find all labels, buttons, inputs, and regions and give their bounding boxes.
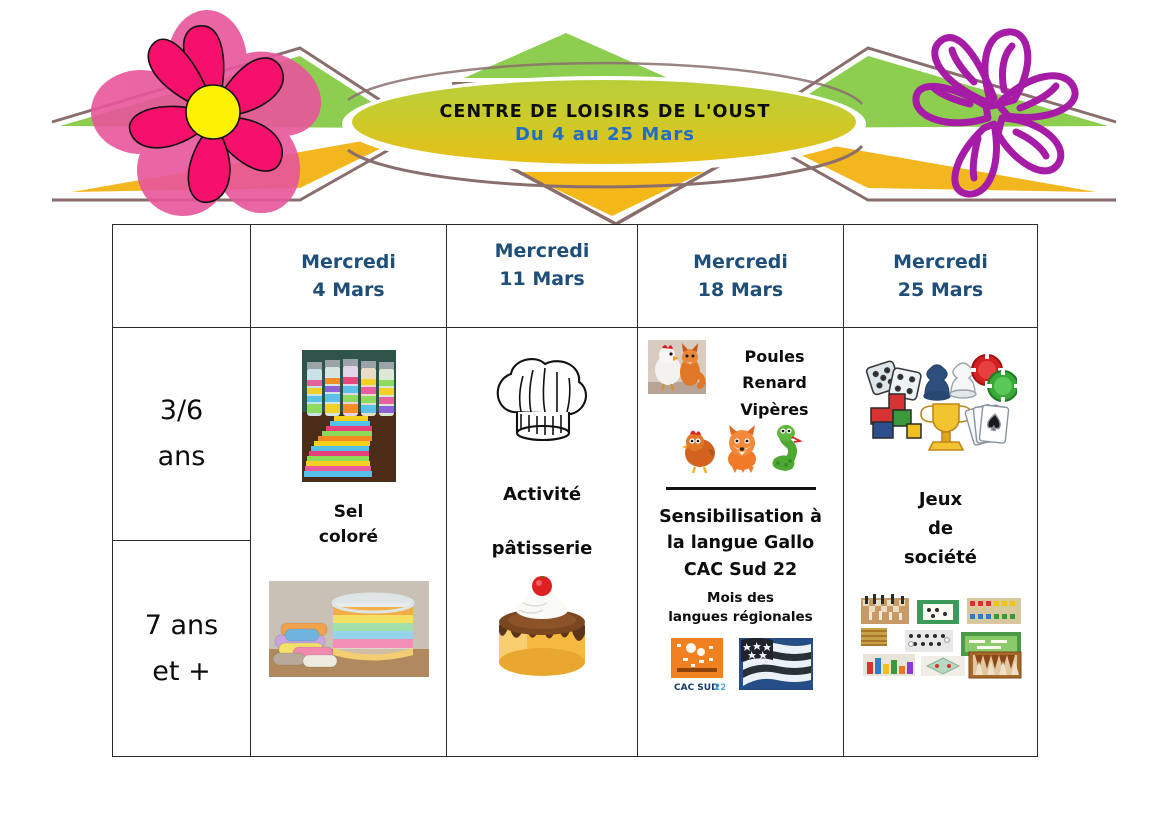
age-label-line1: 3/6 xyxy=(160,388,203,434)
hen-and-fox-photo xyxy=(648,340,706,394)
divider xyxy=(666,487,816,490)
title-line-2: de xyxy=(844,515,1037,544)
header-date: 25 Mars xyxy=(898,278,983,302)
schedule-table: Mercredi 4 Mars Mercredi 11 Mars Mercred… xyxy=(112,224,1038,757)
age-label-line1: 7 ans xyxy=(145,603,219,649)
breton-flag-photo xyxy=(739,638,813,690)
activity-title-11-mars-line2: pâtisserie xyxy=(447,536,637,562)
header-banner: CENTRE DE LOISIRS DE L'OUST Du 4 au 25 M… xyxy=(0,0,1169,225)
header-cell-4-mars: Mercredi 4 Mars xyxy=(251,225,447,328)
svg-text:22: 22 xyxy=(714,683,725,693)
chocolate-cake-with-cherry-clipart xyxy=(483,576,601,682)
poster-subtitle: Du 4 au 25 Mars xyxy=(515,124,695,145)
header-day: Mercredi xyxy=(693,250,788,274)
game-header-group: Poules Renard Vipères xyxy=(638,328,843,423)
header-date: 18 Mars xyxy=(698,278,783,302)
cac-logo-text: CAC SUD xyxy=(674,683,719,693)
activity-title-11-mars-line1: Activité xyxy=(447,482,637,508)
activity-cell-25-mars: Jeux de société xyxy=(844,328,1038,757)
title-line-1: Activité xyxy=(447,482,637,508)
game-line-3: Vipères xyxy=(712,397,837,423)
title-line-3: CAC Sud 22 xyxy=(638,557,843,583)
hen-fox-snake-cartoon xyxy=(678,425,806,473)
age-label-line2: ans xyxy=(158,434,206,480)
header-day: Mercredi xyxy=(893,250,988,274)
activity-cell-11-mars: Activité pâtisserie xyxy=(447,328,638,757)
activity-cell-18-mars: Poules Renard Vipères xyxy=(638,328,844,757)
title-line-1: Sel xyxy=(251,500,446,525)
age-cell-7-plus: 7 ans et + xyxy=(113,541,251,757)
header-cell-11-mars: Mercredi 11 Mars xyxy=(447,225,638,328)
title-line-2: pâtisserie xyxy=(447,536,637,562)
poster-title: CENTRE DE LOISIRS DE L'OUST xyxy=(439,102,770,122)
header-date: 4 Mars xyxy=(312,278,384,302)
header-cell-25-mars: Mercredi 25 Mars xyxy=(844,225,1038,328)
title-line-1: Sensibilisation à xyxy=(638,504,843,530)
age-label-line2: et + xyxy=(152,649,210,695)
game-line-1: Poules xyxy=(712,344,837,370)
game-line-2: Renard xyxy=(712,370,837,396)
header-day: Mercredi xyxy=(495,239,590,263)
header-date: 11 Mars xyxy=(499,267,584,291)
title-line-2: la langue Gallo xyxy=(638,530,843,556)
table-header-row: Mercredi 4 Mars Mercredi 11 Mars Mercred… xyxy=(113,225,1038,328)
gold-triangle-icon xyxy=(504,164,722,224)
age-cell-3-6: 3/6 ans xyxy=(113,328,251,541)
corner-cell xyxy=(113,225,251,328)
poster-page: CENTRE DE LOISIRS DE L'OUST Du 4 au 25 M… xyxy=(0,0,1169,827)
board-game-icons-clipart xyxy=(865,348,1017,458)
rainbow-salt-jar-and-chalk-photo xyxy=(269,581,429,677)
note-line-2: langues régionales xyxy=(638,608,843,628)
banner-title-group: CENTRE DE LOISIRS DE L'OUST Du 4 au 25 M… xyxy=(355,86,855,161)
colored-salt-bottles-photo xyxy=(302,350,396,482)
title-line-1: Jeux xyxy=(844,486,1037,515)
cac-sud-22-logo: CAC SUD 22 xyxy=(669,638,725,694)
title-line-3: société xyxy=(844,544,1037,573)
activity-cell-4-mars: Sel coloré xyxy=(251,328,447,757)
game-title-18-mars: Poules Renard Vipères xyxy=(712,344,837,423)
activity-note-18-mars: Mois des langues régionales xyxy=(638,589,843,628)
header-day: Mercredi xyxy=(301,250,396,274)
board-games-collage-photo xyxy=(857,594,1025,680)
green-triangle-icon xyxy=(430,22,700,84)
title-line-2: coloré xyxy=(251,525,446,550)
header-cell-18-mars: Mercredi 18 Mars xyxy=(638,225,844,328)
activity-title-4-mars: Sel coloré xyxy=(251,500,446,549)
note-line-1: Mois des xyxy=(638,589,843,609)
chef-hat-line-drawing xyxy=(487,356,597,452)
activity-title-18-mars: Sensibilisation à la langue Gallo CAC Su… xyxy=(638,504,843,583)
table-row-age-3-6: 3/6 ans xyxy=(113,328,1038,541)
logo-group: CAC SUD 22 xyxy=(638,638,843,694)
activity-title-25-mars: Jeux de société xyxy=(844,486,1037,572)
